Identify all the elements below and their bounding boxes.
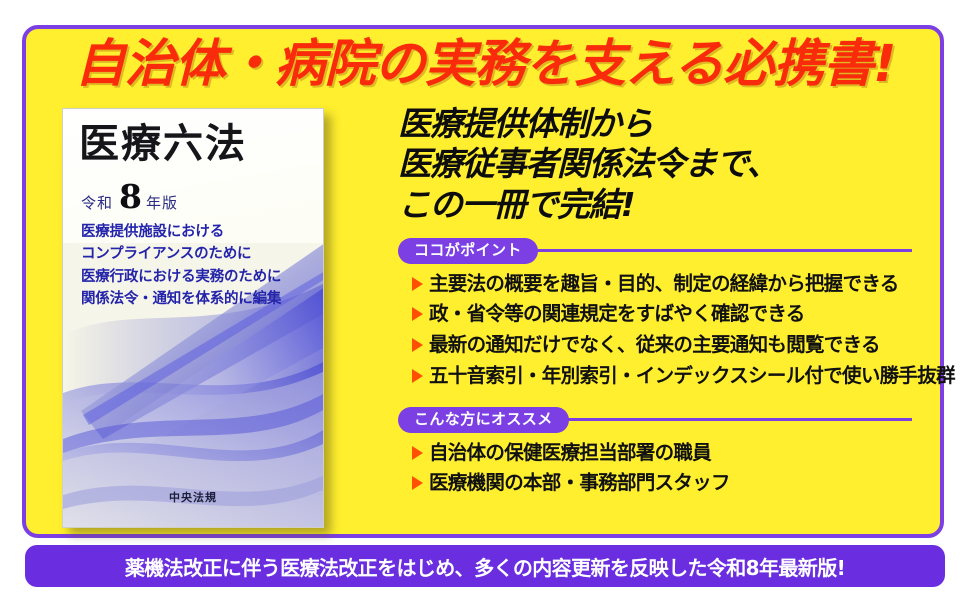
- promo-subheadline-line: この一冊で完結!: [398, 185, 934, 225]
- book-edition-era: 令和: [81, 192, 113, 213]
- triangle-bullet-icon: [412, 476, 423, 490]
- section-header: こんな方にオススメ: [398, 407, 934, 433]
- list-item: 五十音索引・年別索引・インデックスシール付で使い勝手抜群: [412, 363, 934, 389]
- list-item: 政・省令等の関連規定をすばやく確認できる: [412, 301, 934, 327]
- book-subtitle-line: コンプライアンスのために: [81, 243, 311, 265]
- promo-subheadline-line: 医療提供体制から: [398, 104, 934, 144]
- section-points: ココがポイント 主要法の概要を趣旨・目的、制定の経緯から把握できる 政・省令等の…: [398, 238, 934, 389]
- footer-banner: 薬機法改正に伴う医療法改正をはじめ、多くの内容更新を反映した令和8年最新版!: [25, 545, 945, 587]
- advertisement-banner: 自治体・病院の実務を支える必携書!: [0, 0, 970, 600]
- book-edition: 令和 8 年版: [81, 177, 178, 216]
- book-subtitle-line: 医療行政における実務のために: [81, 266, 311, 288]
- section-header: ココがポイント: [398, 238, 934, 264]
- list-item: 医療機関の本部・事務部門スタッフ: [412, 470, 934, 496]
- triangle-bullet-icon: [412, 446, 423, 460]
- book-subtitle-list: 医療提供施設における コンプライアンスのために 医療行政における実務のために 関…: [81, 221, 311, 311]
- spacer: [398, 225, 934, 238]
- list-item-label: 最新の通知だけでなく、従来の主要通知も閲覧できる: [429, 332, 880, 358]
- list-item-label: 五十音索引・年別索引・インデックスシール付で使い勝手抜群: [429, 363, 955, 389]
- publisher-name: 中央法規: [63, 489, 323, 505]
- book-subtitle-line: 医療提供施設における: [81, 221, 311, 243]
- triangle-bullet-icon: [412, 277, 423, 291]
- list-item: 最新の通知だけでなく、従来の主要通知も閲覧できる: [412, 332, 934, 358]
- section-divider-rule: [563, 418, 912, 421]
- page-title: 自治体・病院の実務を支える必携書!: [30, 33, 940, 95]
- bullet-list: 自治体の保健医療担当部署の職員 医療機関の本部・事務部門スタッフ: [398, 440, 934, 496]
- section-pill-label: ココがポイント: [398, 238, 538, 264]
- book-title: 医療六法: [79, 123, 247, 165]
- book-subtitle-line: 関係法令・通知を体系的に編集: [81, 288, 311, 310]
- list-item: 主要法の概要を趣旨・目的、制定の経緯から把握できる: [412, 271, 934, 297]
- spacer: [398, 394, 934, 407]
- section-recommended: こんな方にオススメ 自治体の保健医療担当部署の職員 医療機関の本部・事務部門スタ…: [398, 407, 934, 496]
- list-item-label: 医療機関の本部・事務部門スタッフ: [429, 470, 730, 496]
- section-pill-label: こんな方にオススメ: [398, 407, 569, 433]
- list-item-label: 政・省令等の関連規定をすばやく確認できる: [429, 301, 805, 327]
- bullet-list: 主要法の概要を趣旨・目的、制定の経緯から把握できる 政・省令等の関連規定をすばや…: [398, 271, 934, 389]
- book-cover-image: 医療六法 令和 8 年版 医療提供施設における コンプライアンスのために 医療行…: [62, 108, 324, 528]
- list-item-label: 自治体の保健医療担当部署の職員: [429, 440, 711, 466]
- triangle-bullet-icon: [412, 338, 423, 352]
- footer-banner-text: 薬機法改正に伴う医療法改正をはじめ、多くの内容更新を反映した令和8年最新版!: [125, 552, 845, 581]
- list-item-label: 主要法の概要を趣旨・目的、制定の経緯から把握できる: [429, 271, 899, 297]
- triangle-bullet-icon: [412, 307, 423, 321]
- triangle-bullet-icon: [412, 369, 423, 383]
- list-item: 自治体の保健医療担当部署の職員: [412, 440, 934, 466]
- book-edition-suffix: 年版: [146, 192, 178, 213]
- promo-subheadline: 医療提供体制から 医療従事者関係法令まで、 この一冊で完結!: [398, 104, 934, 225]
- promo-column: 医療提供体制から 医療従事者関係法令まで、 この一冊で完結! ココがポイント 主…: [398, 104, 934, 501]
- book-edition-number: 8: [119, 177, 142, 216]
- book-cover: 医療六法 令和 8 年版 医療提供施設における コンプライアンスのために 医療行…: [62, 108, 324, 528]
- section-divider-rule: [532, 249, 912, 252]
- promo-subheadline-line: 医療従事者関係法令まで、: [398, 144, 934, 184]
